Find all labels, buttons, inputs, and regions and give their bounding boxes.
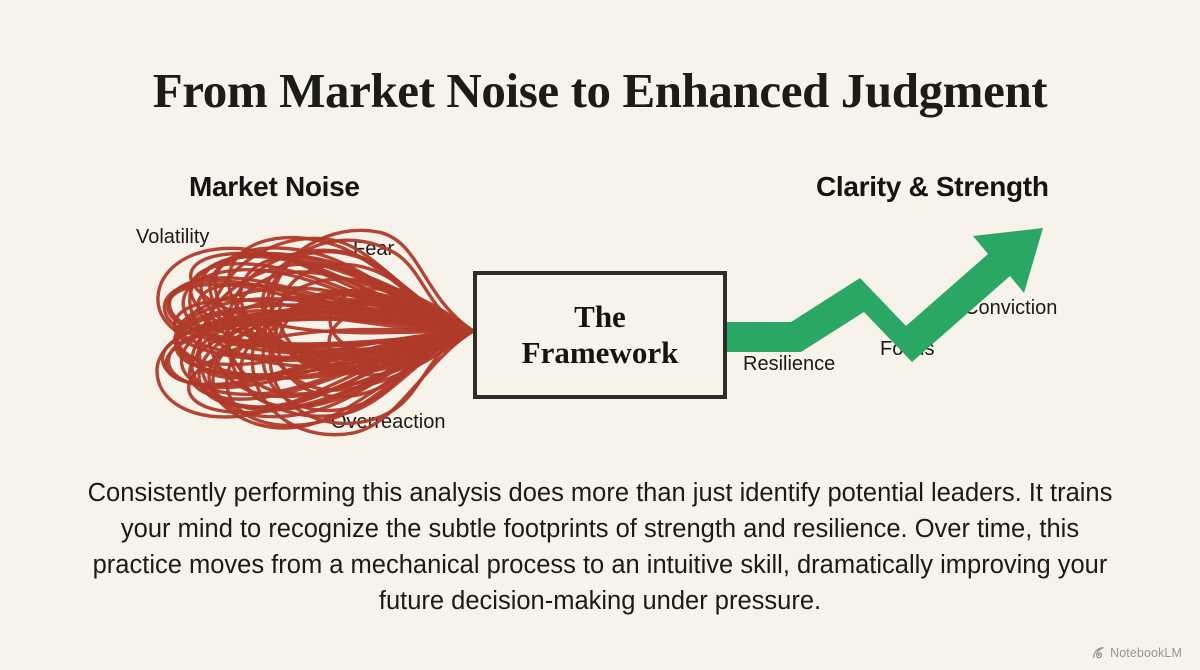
framework-box: The Framework [473,271,727,399]
infographic-canvas: From Market Noise to Enhanced Judgment M… [0,0,1200,670]
framework-line-1: The [522,299,679,335]
framework-line-2: Framework [522,335,679,371]
framework-box-label: The Framework [522,299,679,371]
